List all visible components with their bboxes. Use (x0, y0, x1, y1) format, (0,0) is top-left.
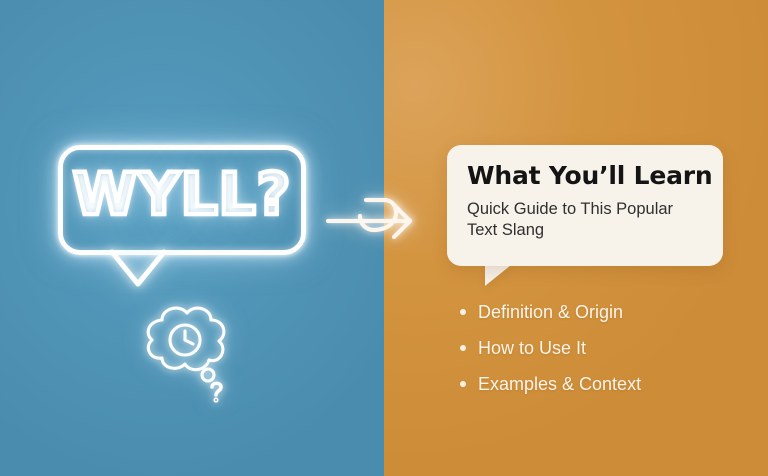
bullet-dot-icon (460, 345, 466, 351)
list-item: Examples & Context (455, 375, 735, 393)
list-item: Definition & Origin (455, 303, 735, 321)
neon-speech-bubble-tail-icon (108, 248, 178, 290)
info-card: What You’ll Learn Quick Guide to This Po… (447, 145, 723, 266)
bullet-dot-icon (460, 381, 466, 387)
topics-list: Definition & Origin How to Use It Exampl… (455, 303, 735, 393)
infographic-canvas: WYLL? What You’ll Learn Quick Guide to T… (0, 0, 768, 476)
list-item: How to Use It (455, 339, 735, 357)
list-item-label: Examples & Context (478, 374, 641, 394)
card-subtitle: Quick Guide to This Popular Text Slang (467, 199, 703, 243)
card-title: What You’ll Learn (467, 162, 703, 190)
card-tail (485, 265, 511, 286)
neon-sign-text: WYLL? (58, 160, 306, 228)
thought-cloud-icon (132, 298, 242, 402)
bullet-dot-icon (460, 309, 466, 315)
list-item-label: How to Use It (478, 338, 586, 358)
list-item-label: Definition & Origin (478, 302, 623, 322)
looping-right-arrow-icon (326, 190, 422, 254)
